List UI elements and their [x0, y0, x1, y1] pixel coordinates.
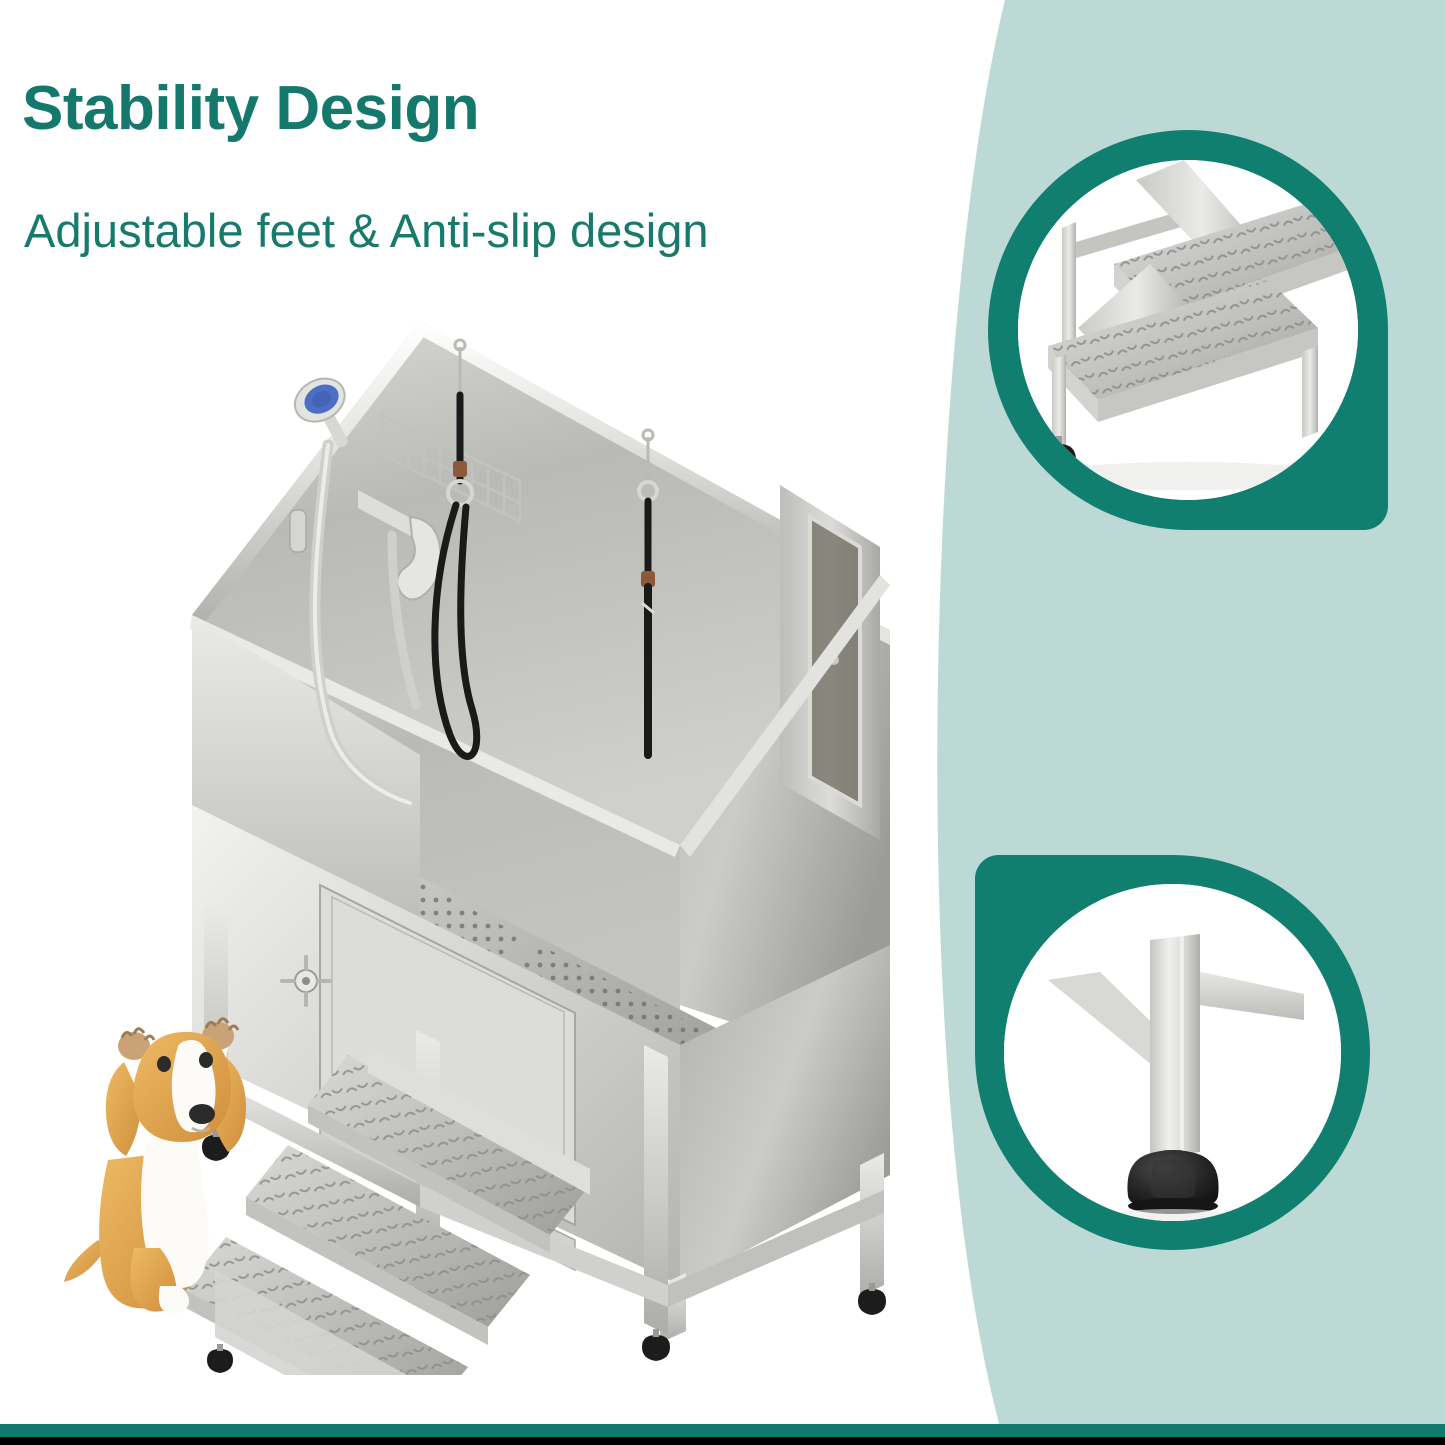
bottom-edge: [0, 1437, 1445, 1445]
product-infographic: Stability Design Adjustable feet & Anti-…: [0, 0, 1445, 1445]
callout-adjustable-foot: [975, 855, 1370, 1250]
beagle-dog: [60, 990, 290, 1320]
callout-back-leg: [1062, 222, 1076, 356]
page-subtitle: Adjustable feet & Anti-slip design: [24, 205, 709, 257]
shower-head-holder: [290, 510, 306, 552]
callout-main-leg: [1150, 934, 1200, 1158]
dog-nose: [189, 1104, 215, 1124]
dog-eye-left: [157, 1056, 171, 1072]
callout-photo-steps: [1018, 160, 1359, 501]
callout-foot-cone: [1128, 1150, 1219, 1214]
dog-eye-right: [199, 1052, 213, 1068]
page-title: Stability Design: [22, 78, 479, 140]
callout-anti-slip-steps: [988, 130, 1388, 530]
bottom-accent-bar: [0, 1424, 1445, 1437]
callout-photo-foot: [1004, 884, 1341, 1221]
